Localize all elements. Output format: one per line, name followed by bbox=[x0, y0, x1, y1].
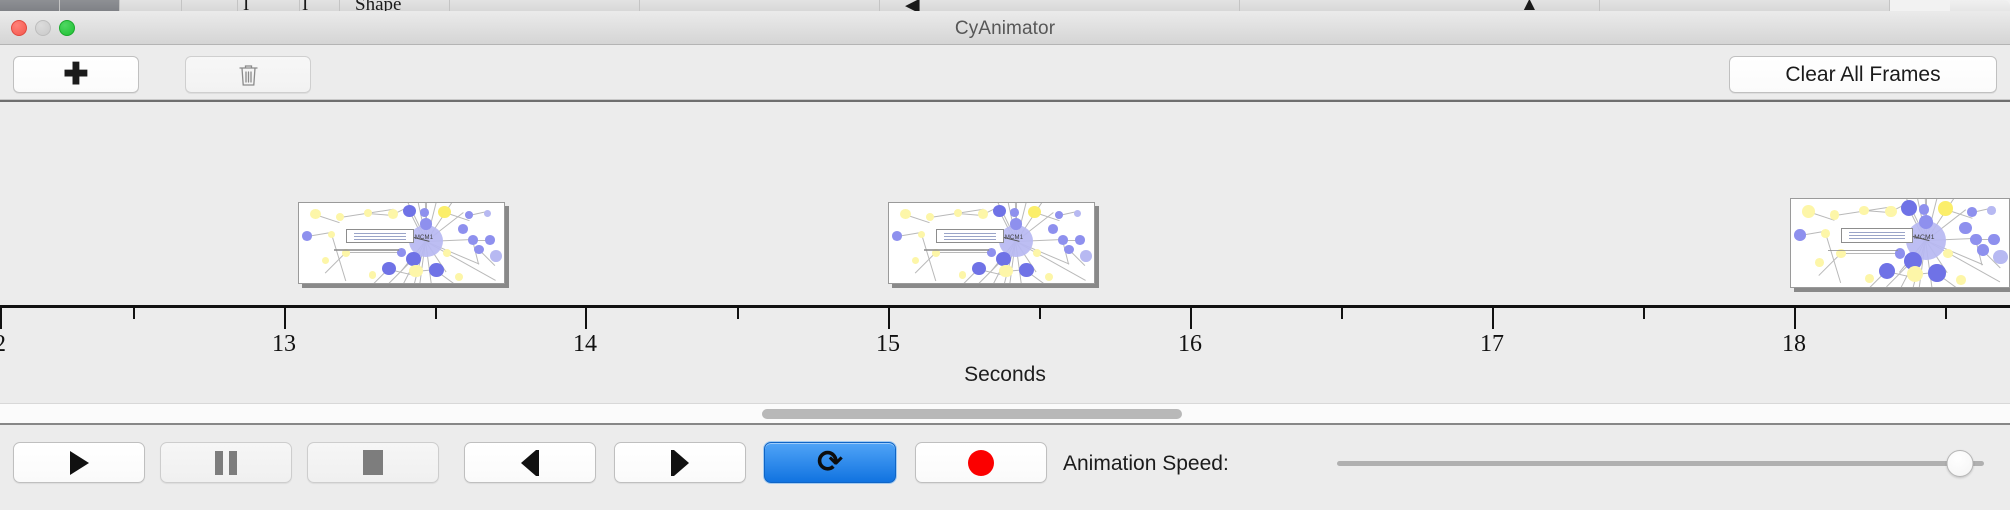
graph-node bbox=[490, 250, 502, 262]
stop-button[interactable] bbox=[307, 442, 439, 483]
trash-icon bbox=[238, 63, 259, 87]
graph-node bbox=[1879, 263, 1896, 279]
graph-node bbox=[1885, 206, 1897, 218]
animation-speed-slider[interactable] bbox=[1337, 461, 1984, 466]
frame-graph-preview: MCM1 bbox=[1791, 199, 2009, 287]
axis-tick-minor bbox=[1341, 308, 1343, 319]
graph-node bbox=[438, 206, 451, 218]
graph-node bbox=[322, 257, 329, 264]
graph-node bbox=[369, 271, 376, 278]
axis-tick-label: 16 bbox=[1178, 331, 1202, 358]
add-frame-button[interactable]: ✚ bbox=[13, 56, 139, 93]
stop-icon bbox=[363, 450, 383, 475]
clear-all-frames-button[interactable]: Clear All Frames bbox=[1729, 56, 1997, 93]
pause-icon bbox=[215, 451, 237, 475]
graph-node bbox=[1080, 250, 1092, 262]
graph-node bbox=[382, 262, 396, 275]
loop-button[interactable]: ⟳ bbox=[764, 442, 896, 483]
record-button[interactable] bbox=[915, 442, 1047, 483]
background-toolbar-segment bbox=[0, 0, 60, 11]
graph-node bbox=[458, 224, 469, 234]
axis-tick-minor bbox=[737, 308, 739, 319]
axis-tick-label: 17 bbox=[1480, 331, 1504, 358]
graph-node bbox=[1010, 218, 1022, 230]
axis-title: Seconds bbox=[0, 363, 2010, 387]
axis-tick-minor bbox=[435, 308, 437, 319]
graph-node bbox=[912, 257, 919, 264]
graph-node bbox=[1074, 210, 1081, 217]
axis-tick-minor bbox=[1945, 308, 1947, 319]
loop-icon: ⟳ bbox=[817, 449, 843, 475]
cyanimator-window: CyAnimator ✚ Clear All Frames MCM1MCM1MC… bbox=[0, 11, 2010, 510]
graph-node bbox=[954, 209, 962, 217]
graph-node bbox=[1028, 206, 1041, 218]
graph-node bbox=[328, 231, 335, 238]
background-toolbar-segment bbox=[1240, 0, 1600, 11]
background-toolbar-segment bbox=[182, 0, 238, 11]
graph-node bbox=[1075, 235, 1085, 244]
graph-annotation-line bbox=[944, 236, 997, 237]
graph-node bbox=[1977, 244, 1989, 256]
graph-node bbox=[1010, 208, 1019, 217]
graph-annotation-line bbox=[1849, 235, 1905, 236]
delete-frame-button[interactable] bbox=[185, 56, 311, 93]
background-window-text: ▲ bbox=[1520, 0, 1539, 11]
graph-node bbox=[310, 209, 321, 219]
graph-node bbox=[1959, 222, 1972, 235]
graph-caption-text bbox=[1828, 250, 1898, 251]
skip-to-end-button[interactable] bbox=[614, 442, 746, 483]
graph-node bbox=[1993, 250, 2008, 264]
background-window-corner bbox=[1950, 0, 2010, 11]
skip-forward-icon bbox=[671, 450, 689, 476]
axis-tick-label: 18 bbox=[1782, 331, 1806, 358]
timeline-pane[interactable]: MCM1MCM1MCM1 2131415161718 Seconds bbox=[0, 100, 2010, 403]
graph-node bbox=[443, 249, 451, 257]
play-button[interactable] bbox=[13, 442, 145, 483]
graph-node bbox=[1956, 275, 1966, 285]
axis-tick-major bbox=[284, 308, 286, 329]
graph-edge bbox=[1841, 253, 1900, 254]
graph-node bbox=[302, 231, 312, 240]
graph-annotation-line bbox=[944, 239, 997, 240]
graph-node bbox=[1865, 274, 1874, 283]
graph-node bbox=[1830, 210, 1840, 220]
graph-annotation-line bbox=[354, 233, 407, 234]
graph-annotation-line bbox=[944, 233, 997, 234]
axis-tick-label: 13 bbox=[272, 331, 296, 358]
timeline-frame-thumbnail[interactable]: MCM1 bbox=[1790, 198, 2010, 288]
axis-tick-major bbox=[0, 308, 2, 329]
frame-graph-preview: MCM1 bbox=[299, 203, 504, 283]
graph-node bbox=[429, 263, 444, 277]
record-icon bbox=[968, 450, 994, 476]
graph-node bbox=[1058, 235, 1068, 244]
axis-tick-major bbox=[1492, 308, 1494, 329]
plus-icon: ✚ bbox=[63, 64, 88, 85]
graph-annotation-line bbox=[1849, 238, 1905, 239]
graph-node bbox=[1859, 206, 1869, 216]
graph-annotation-line bbox=[354, 239, 407, 240]
background-toolbar-segment bbox=[1600, 0, 1890, 11]
background-window-text: I bbox=[302, 0, 308, 11]
pause-button[interactable] bbox=[160, 442, 292, 483]
graph-node bbox=[1821, 229, 1830, 238]
graph-node bbox=[465, 211, 473, 219]
graph-node bbox=[1919, 204, 1930, 215]
axis-tick-minor bbox=[133, 308, 135, 319]
graph-annotation-line bbox=[1849, 232, 1905, 233]
graph-node bbox=[972, 262, 986, 275]
graph-caption-text bbox=[924, 249, 990, 250]
graph-node bbox=[1987, 206, 1995, 214]
background-toolbar-segment bbox=[640, 0, 880, 11]
graph-node bbox=[1045, 273, 1053, 281]
graph-node bbox=[1928, 264, 1946, 281]
graph-edge bbox=[1825, 233, 1841, 283]
graph-node bbox=[892, 231, 902, 240]
clear-all-frames-label: Clear All Frames bbox=[1785, 63, 1940, 87]
background-toolbar-segment bbox=[880, 0, 1240, 11]
graph-node bbox=[1019, 263, 1034, 277]
axis-tick-major bbox=[585, 308, 587, 329]
graph-node bbox=[1802, 205, 1815, 218]
animation-speed-label: Animation Speed: bbox=[1063, 452, 1229, 476]
graph-node bbox=[485, 235, 495, 244]
timeline-axis: 2131415161718 Seconds bbox=[0, 305, 2010, 403]
graph-annotation-box bbox=[1841, 228, 1913, 243]
background-toolbar-segment bbox=[450, 0, 640, 11]
graph-node bbox=[1055, 211, 1063, 219]
graph-caption-text bbox=[334, 249, 400, 250]
graph-node bbox=[900, 209, 911, 219]
axis-tick-major bbox=[1794, 308, 1796, 329]
graph-node bbox=[1048, 224, 1059, 234]
graph-annotation-line bbox=[354, 236, 407, 237]
timeline-frame-thumbnail[interactable]: MCM1 bbox=[888, 202, 1095, 284]
frame-toolbar: ✚ Clear All Frames bbox=[0, 45, 2010, 100]
axis-baseline bbox=[0, 305, 2010, 308]
skip-to-start-button[interactable] bbox=[464, 442, 596, 483]
background-window-text: ◀ bbox=[905, 0, 920, 11]
graph-annotation-box bbox=[346, 229, 414, 243]
graph-node bbox=[999, 265, 1013, 278]
background-toolbar-segment bbox=[120, 0, 182, 11]
graph-node bbox=[409, 265, 423, 278]
axis-tick-label: 2 bbox=[0, 331, 6, 358]
graph-node bbox=[420, 218, 432, 230]
timeline-scrollbar-thumb[interactable] bbox=[762, 409, 1182, 419]
graph-node bbox=[926, 213, 934, 221]
graph-node bbox=[364, 209, 372, 217]
graph-node bbox=[388, 209, 398, 218]
page-title: CyAnimator bbox=[0, 18, 2010, 40]
timeline-scrollbar[interactable] bbox=[0, 403, 2010, 423]
graph-node bbox=[420, 208, 429, 217]
background-window-text: I bbox=[243, 0, 249, 11]
graph-node bbox=[455, 273, 463, 281]
graph-node bbox=[1815, 258, 1824, 267]
graph-node bbox=[484, 210, 491, 217]
timeline-frame-thumbnail[interactable]: MCM1 bbox=[298, 202, 505, 284]
graph-node bbox=[1794, 229, 1806, 241]
graph-node bbox=[1907, 266, 1923, 282]
window-titlebar: CyAnimator bbox=[0, 11, 2010, 45]
axis-tick-label: 15 bbox=[876, 331, 900, 358]
graph-edge bbox=[346, 252, 401, 253]
play-icon bbox=[70, 451, 89, 475]
skip-back-icon bbox=[521, 450, 539, 476]
axis-tick-major bbox=[888, 308, 890, 329]
graph-node bbox=[1967, 207, 1977, 217]
frame-graph-preview: MCM1 bbox=[889, 203, 1094, 283]
graph-node bbox=[468, 235, 478, 244]
graph-edge bbox=[936, 252, 991, 253]
graph-node bbox=[336, 213, 344, 221]
graph-node bbox=[1938, 201, 1953, 216]
axis-tick-minor bbox=[1039, 308, 1041, 319]
playback-controls: ⟳ Animation Speed: bbox=[0, 423, 2010, 509]
background-window-strip: ShapeII◀▲ bbox=[0, 0, 2010, 11]
graph-node bbox=[1901, 200, 1917, 216]
graph-node bbox=[1988, 234, 2000, 246]
axis-tick-major bbox=[1190, 308, 1192, 329]
graph-annotation-box bbox=[936, 229, 1004, 243]
graph-node bbox=[1033, 249, 1041, 257]
axis-tick-minor bbox=[1643, 308, 1645, 319]
axis-tick-label: 14 bbox=[573, 331, 597, 358]
graph-node bbox=[978, 209, 988, 218]
graph-node bbox=[1943, 249, 1953, 259]
graph-node bbox=[918, 231, 925, 238]
background-window-text: Shape bbox=[355, 0, 401, 11]
animation-speed-slider-thumb[interactable] bbox=[1947, 450, 1974, 477]
background-toolbar-segment bbox=[60, 0, 120, 11]
graph-node bbox=[959, 271, 966, 278]
